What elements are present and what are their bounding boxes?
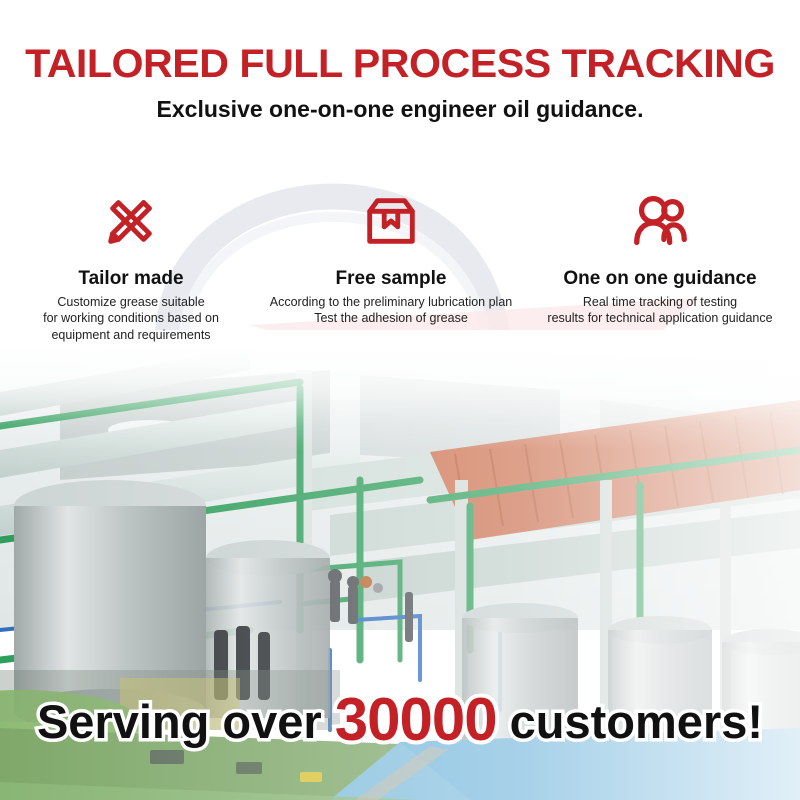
feature-item-free-sample: Free sample According to the preliminary… (262, 185, 520, 343)
page-title: TAILORED FULL PROCESS TRACKING (0, 0, 800, 84)
photo-top-fade (0, 330, 800, 450)
feature-description: Real time tracking of testing results fo… (524, 290, 796, 327)
header: TAILORED FULL PROCESS TRACKING Exclusive… (0, 0, 800, 150)
banner-prefix: Serving over (37, 695, 322, 748)
promotional-poster: TAILORED FULL PROCESS TRACKING Exclusive… (0, 0, 800, 800)
bottom-banner: Serving over 30000 customers! (0, 690, 800, 750)
feature-title: Free sample (266, 257, 516, 290)
feature-description: According to the preliminary lubrication… (266, 290, 516, 327)
feature-list: Tailor made Customize grease suitable fo… (0, 185, 800, 343)
ruler-pencil-icon (4, 185, 258, 257)
feature-item-one-on-one: One on one guidance Real time tracking o… (520, 185, 800, 343)
banner-suffix: customers! (510, 695, 763, 748)
feature-item-tailor-made: Tailor made Customize grease suitable fo… (0, 185, 262, 343)
feature-description: Customize grease suitable for working co… (4, 290, 258, 344)
two-people-icon (524, 185, 796, 257)
banner-number: 30000 (335, 686, 497, 753)
page-subtitle: Exclusive one-on-one engineer oil guidan… (0, 84, 800, 121)
feature-title: Tailor made (4, 257, 258, 290)
package-box-icon (266, 185, 516, 257)
feature-title: One on one guidance (524, 257, 796, 290)
